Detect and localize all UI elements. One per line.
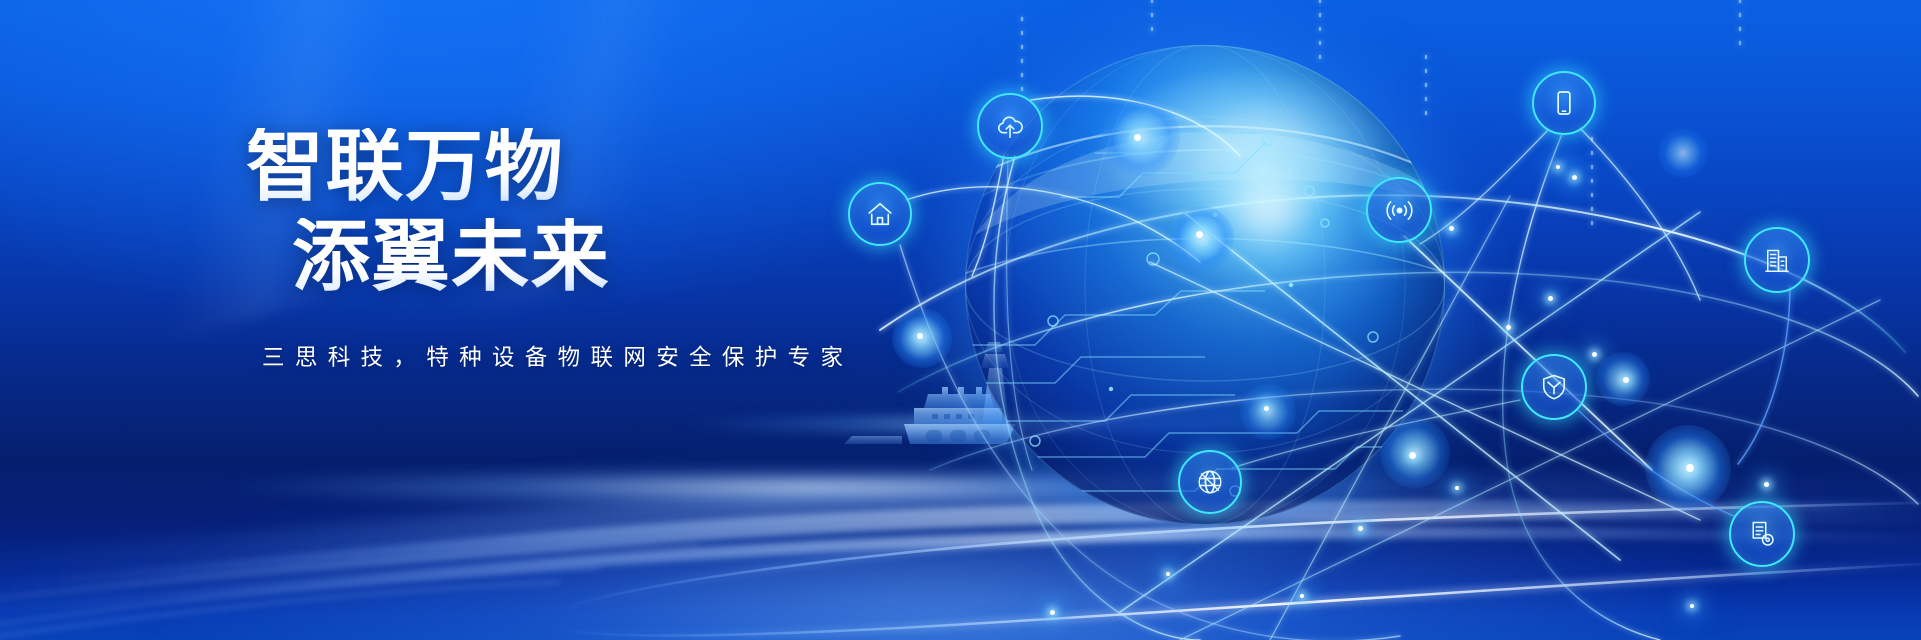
headline-subtitle: 三思科技，特种设备物联网安全保护专家 bbox=[262, 340, 1006, 372]
signal-wave-icon bbox=[1383, 194, 1416, 227]
glow-spark bbox=[1170, 206, 1234, 270]
node-globe-network[interactable] bbox=[1178, 450, 1242, 514]
network-node-dot bbox=[1506, 325, 1511, 330]
network-node-dot bbox=[1050, 610, 1055, 615]
network-node-dot bbox=[1196, 231, 1203, 238]
node-building[interactable] bbox=[1744, 227, 1810, 293]
network-node-dot bbox=[1449, 226, 1454, 231]
glow-spark bbox=[1102, 98, 1180, 176]
shield-check-icon bbox=[1539, 372, 1569, 402]
network-node-dot bbox=[1409, 452, 1416, 459]
globe-network-icon bbox=[1195, 467, 1225, 497]
network-node-dot bbox=[1358, 526, 1363, 531]
network-node-dot bbox=[1690, 604, 1694, 608]
building-icon bbox=[1762, 245, 1792, 275]
network-node-dot bbox=[1686, 464, 1694, 472]
hero-banner: 智联万物 添翼未来 三思科技，特种设备物联网安全保护专家 bbox=[0, 0, 1921, 640]
headline-line-1: 智联万物 bbox=[246, 128, 1006, 206]
glow-spark bbox=[1240, 384, 1296, 440]
glow-spark bbox=[1658, 128, 1708, 178]
network-node-dot bbox=[1623, 377, 1629, 383]
document-gear-icon bbox=[1747, 519, 1777, 549]
network-node-dot bbox=[1134, 134, 1141, 141]
network-node-dot bbox=[1300, 594, 1304, 598]
network-node-dot bbox=[1548, 296, 1553, 301]
network-node-dot bbox=[1572, 175, 1577, 180]
headline-line-2: 添翼未来 bbox=[292, 218, 1006, 296]
node-smartphone[interactable] bbox=[1532, 71, 1596, 135]
network-node-dot bbox=[1592, 352, 1597, 357]
headline-block: 智联万物 添翼未来 三思科技，特种设备物联网安全保护专家 bbox=[246, 128, 1006, 372]
node-document[interactable] bbox=[1729, 501, 1795, 567]
network-node-dot bbox=[1556, 165, 1560, 169]
node-signal[interactable] bbox=[1366, 177, 1432, 243]
network-node-dot bbox=[1764, 482, 1769, 487]
network-node-dot bbox=[1264, 406, 1269, 411]
network-node-dot bbox=[1455, 486, 1459, 490]
node-shield[interactable] bbox=[1521, 354, 1587, 420]
smartphone-icon bbox=[1550, 89, 1578, 117]
network-node-dot bbox=[1166, 572, 1170, 576]
